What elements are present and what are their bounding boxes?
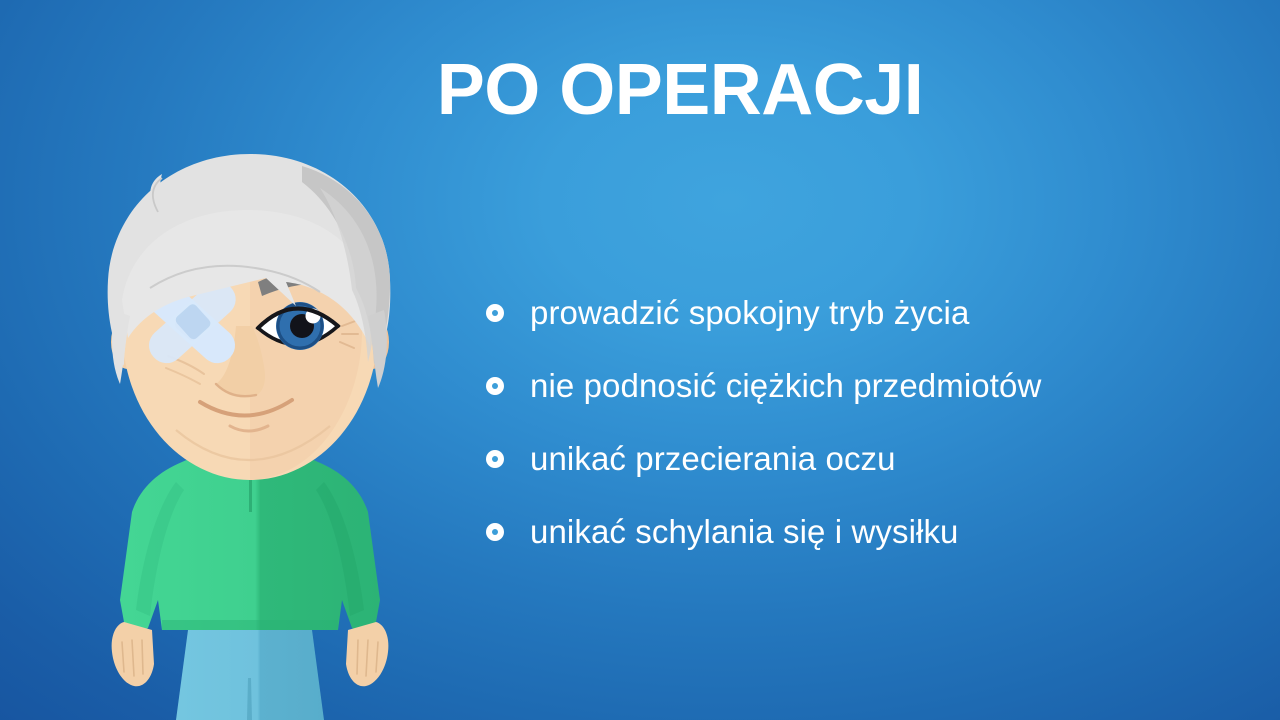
elderly-man-with-eye-patch-illustration (80, 130, 420, 720)
page-title: PO OPERACJI (0, 52, 1280, 130)
ring-bullet-icon (486, 450, 504, 468)
list-item-label: unikać przecierania oczu (530, 442, 896, 475)
list-item: unikać schylania się i wysiłku (486, 495, 1226, 568)
list-item-label: unikać schylania się i wysiłku (530, 515, 959, 548)
list-item-label: nie podnosić ciężkich przedmiotów (530, 369, 1041, 402)
right-hand (346, 622, 388, 686)
ring-bullet-icon (486, 304, 504, 322)
list-item: unikać przecierania oczu (486, 422, 1226, 495)
list-item: nie podnosić ciężkich przedmiotów (486, 349, 1226, 422)
slide-canvas: PO OPERACJI (0, 0, 1280, 720)
ring-bullet-icon (486, 523, 504, 541)
trousers (176, 630, 324, 720)
bullet-list: prowadzić spokojny tryb życia nie podnos… (486, 276, 1226, 568)
left-hand (112, 622, 154, 686)
ring-bullet-icon (486, 377, 504, 395)
list-item-label: prowadzić spokojny tryb życia (530, 296, 969, 329)
list-item: prowadzić spokojny tryb życia (486, 276, 1226, 349)
